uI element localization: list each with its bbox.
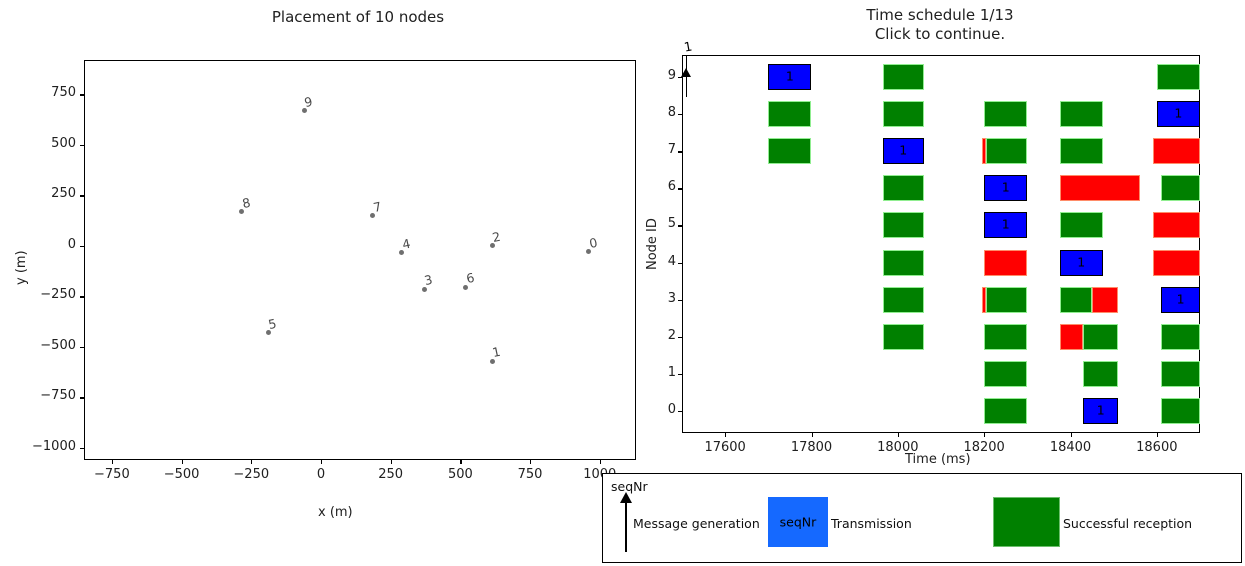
scatter-y-tick: −500: [18, 338, 76, 353]
scatter-y-tick: 0: [18, 237, 76, 252]
schedule-x-tick: 17800: [772, 440, 852, 455]
schedule-bar-transmission[interactable]: 1: [883, 138, 924, 164]
scatter-y-tick: 250: [18, 186, 76, 201]
schedule-bar-reception[interactable]: [1161, 361, 1200, 387]
scatter-y-tickmark: [80, 397, 84, 398]
scatter-x-tick: 0: [286, 467, 356, 482]
scatter-x-tick: −500: [147, 467, 217, 482]
schedule-bar-reception[interactable]: [1060, 138, 1103, 164]
schedule-bar-reception[interactable]: [768, 101, 811, 127]
schedule-y-tick: 4: [648, 254, 676, 269]
schedule-y-tick: 9: [648, 68, 676, 83]
scatter-xlabel: x (m): [318, 505, 353, 520]
schedule-x-tick: 18200: [944, 440, 1024, 455]
schedule-bar-reception[interactable]: [883, 324, 924, 350]
scatter-y-tickmark: [80, 246, 84, 247]
scatter-y-tickmark: [80, 296, 84, 297]
scatter-x-tick: −750: [77, 467, 147, 482]
schedule-bar-reception[interactable]: [986, 287, 1027, 313]
schedule-bar-reception[interactable]: [984, 324, 1027, 350]
schedule-y-tick: 0: [648, 402, 676, 417]
schedule-y-tick: 2: [648, 328, 676, 343]
legend-box: seqNr Message generationseqNrTransmissio…: [602, 473, 1242, 563]
schedule-bar-transmission[interactable]: 1: [1157, 101, 1200, 127]
schedule-x-tickmark: [812, 433, 813, 437]
schedule-y-tickmark: [678, 151, 682, 152]
scatter-y-tickmark: [80, 347, 84, 348]
schedule-bar-seqnr: 1: [985, 219, 1026, 232]
schedule-panel: Time schedule 1/13 Click to continue. No…: [660, 0, 1245, 470]
schedule-bar-reception[interactable]: [1060, 212, 1103, 238]
message-generation-arrow-head: [681, 68, 691, 77]
schedule-bar-transmission[interactable]: 1: [984, 212, 1027, 238]
schedule-bar-reception[interactable]: [986, 138, 1027, 164]
schedule-bar-collision[interactable]: [1153, 212, 1200, 238]
scatter-x-tickmark: [530, 460, 531, 464]
legend-swatch-label: seqNr: [768, 515, 828, 530]
schedule-x-tick: 17600: [685, 440, 765, 455]
scatter-y-tickmark: [80, 145, 84, 146]
schedule-bar-reception[interactable]: [768, 138, 811, 164]
schedule-bar-reception[interactable]: [1161, 398, 1200, 424]
schedule-bar-seqnr: 1: [1158, 108, 1199, 121]
legend-swatch-transmission: seqNr: [768, 497, 828, 547]
schedule-y-tickmark: [678, 374, 682, 375]
scatter-y-tickmark: [80, 94, 84, 95]
schedule-bar-reception[interactable]: [883, 250, 924, 276]
schedule-bar-reception[interactable]: [1060, 101, 1103, 127]
scatter-x-tick: 500: [425, 467, 495, 482]
schedule-y-tickmark: [678, 337, 682, 338]
scatter-x-tickmark: [600, 460, 601, 464]
schedule-y-tick: 3: [648, 291, 676, 306]
legend-message-generation-arrow-head: [620, 492, 632, 503]
schedule-y-tick: 5: [648, 216, 676, 231]
schedule-bar-reception[interactable]: [883, 175, 924, 201]
scatter-x-tickmark: [321, 460, 322, 464]
schedule-bar-collision[interactable]: [1060, 324, 1084, 350]
schedule-x-tickmark: [725, 433, 726, 437]
legend-label-transmission: Transmission: [831, 516, 912, 531]
schedule-bar-reception[interactable]: [1083, 324, 1118, 350]
schedule-bar-reception[interactable]: [883, 101, 924, 127]
schedule-bar-transmission[interactable]: 1: [1161, 287, 1200, 313]
scatter-y-tick: −250: [18, 287, 76, 302]
scatter-y-tickmark: [80, 195, 84, 196]
schedule-bar-collision[interactable]: [1153, 250, 1200, 276]
schedule-y-tickmark: [678, 77, 682, 78]
schedule-bar-seqnr: 1: [1061, 256, 1102, 269]
schedule-bar-collision[interactable]: [984, 250, 1027, 276]
schedule-y-tickmark: [678, 114, 682, 115]
legend-swatch-successful-reception: [993, 497, 1060, 547]
schedule-bar-transmission[interactable]: 1: [1083, 398, 1118, 424]
schedule-y-tick: 8: [648, 105, 676, 120]
schedule-x-tick: 18000: [858, 440, 938, 455]
scatter-x-tickmark: [391, 460, 392, 464]
schedule-bar-seqnr: 1: [1084, 404, 1117, 417]
schedule-bar-reception[interactable]: [883, 64, 924, 90]
schedule-y-tick: 6: [648, 179, 676, 194]
schedule-x-tickmark: [1157, 433, 1158, 437]
schedule-y-tickmark: [678, 411, 682, 412]
scatter-y-tick: −750: [18, 388, 76, 403]
schedule-plot-area[interactable]: [682, 55, 1200, 433]
scatter-panel: Placement of 10 nodes y (m) x (m) 750500…: [0, 0, 660, 566]
schedule-y-tick: 7: [648, 142, 676, 157]
schedule-bar-collision[interactable]: [1060, 175, 1140, 201]
schedule-bar-seqnr: 1: [985, 182, 1026, 195]
scatter-x-tickmark: [460, 460, 461, 464]
schedule-y-tickmark: [678, 300, 682, 301]
schedule-y-tickmark: [678, 225, 682, 226]
schedule-bar-transmission[interactable]: 1: [768, 64, 811, 90]
schedule-bar-reception[interactable]: [1083, 361, 1118, 387]
legend-label-message-generation: Message generation: [633, 516, 760, 531]
schedule-x-tickmark: [898, 433, 899, 437]
scatter-y-tick: −1000: [18, 439, 76, 454]
scatter-plot-area[interactable]: [84, 60, 636, 460]
scatter-y-tick: 750: [18, 85, 76, 100]
schedule-bar-collision[interactable]: [1092, 287, 1118, 313]
schedule-bar-reception[interactable]: [984, 361, 1027, 387]
schedule-bar-reception[interactable]: [1161, 175, 1200, 201]
scatter-x-tickmark: [251, 460, 252, 464]
schedule-bar-reception[interactable]: [883, 212, 924, 238]
scatter-y-tickmark: [80, 448, 84, 449]
schedule-bar-seqnr: 1: [1162, 293, 1199, 306]
scatter-title: Placement of 10 nodes: [80, 8, 636, 27]
schedule-bar-seqnr: 1: [884, 145, 923, 158]
schedule-bar-reception[interactable]: [883, 287, 924, 313]
schedule-y-tickmark: [678, 188, 682, 189]
scatter-x-tick: −250: [216, 467, 286, 482]
schedule-x-tick: 18600: [1117, 440, 1197, 455]
schedule-bar-reception[interactable]: [984, 398, 1027, 424]
scatter-x-tick: 750: [495, 467, 565, 482]
schedule-y-tickmark: [678, 263, 682, 264]
schedule-x-tick: 18400: [1031, 440, 1111, 455]
schedule-bar-transmission[interactable]: 1: [984, 175, 1027, 201]
schedule-bar-transmission[interactable]: 1: [1060, 250, 1103, 276]
scatter-x-tickmark: [182, 460, 183, 464]
scatter-x-tickmark: [112, 460, 113, 464]
schedule-y-tick: 1: [648, 365, 676, 380]
schedule-bar-collision[interactable]: [1153, 138, 1200, 164]
schedule-x-tickmark: [984, 433, 985, 437]
schedule-bar-reception[interactable]: [1157, 64, 1200, 90]
schedule-x-tickmark: [1071, 433, 1072, 437]
schedule-title: Time schedule 1/13 Click to continue.: [670, 6, 1210, 44]
schedule-bar-reception[interactable]: [1161, 324, 1200, 350]
schedule-bar-reception[interactable]: [984, 101, 1027, 127]
schedule-bar-seqnr: 1: [769, 71, 810, 84]
scatter-x-tick: 250: [356, 467, 426, 482]
scatter-y-tick: 500: [18, 136, 76, 151]
schedule-bar-reception[interactable]: [1060, 287, 1092, 313]
scatter-ylabel: y (m): [14, 250, 29, 285]
legend-label-successful-reception: Successful reception: [1063, 516, 1192, 531]
